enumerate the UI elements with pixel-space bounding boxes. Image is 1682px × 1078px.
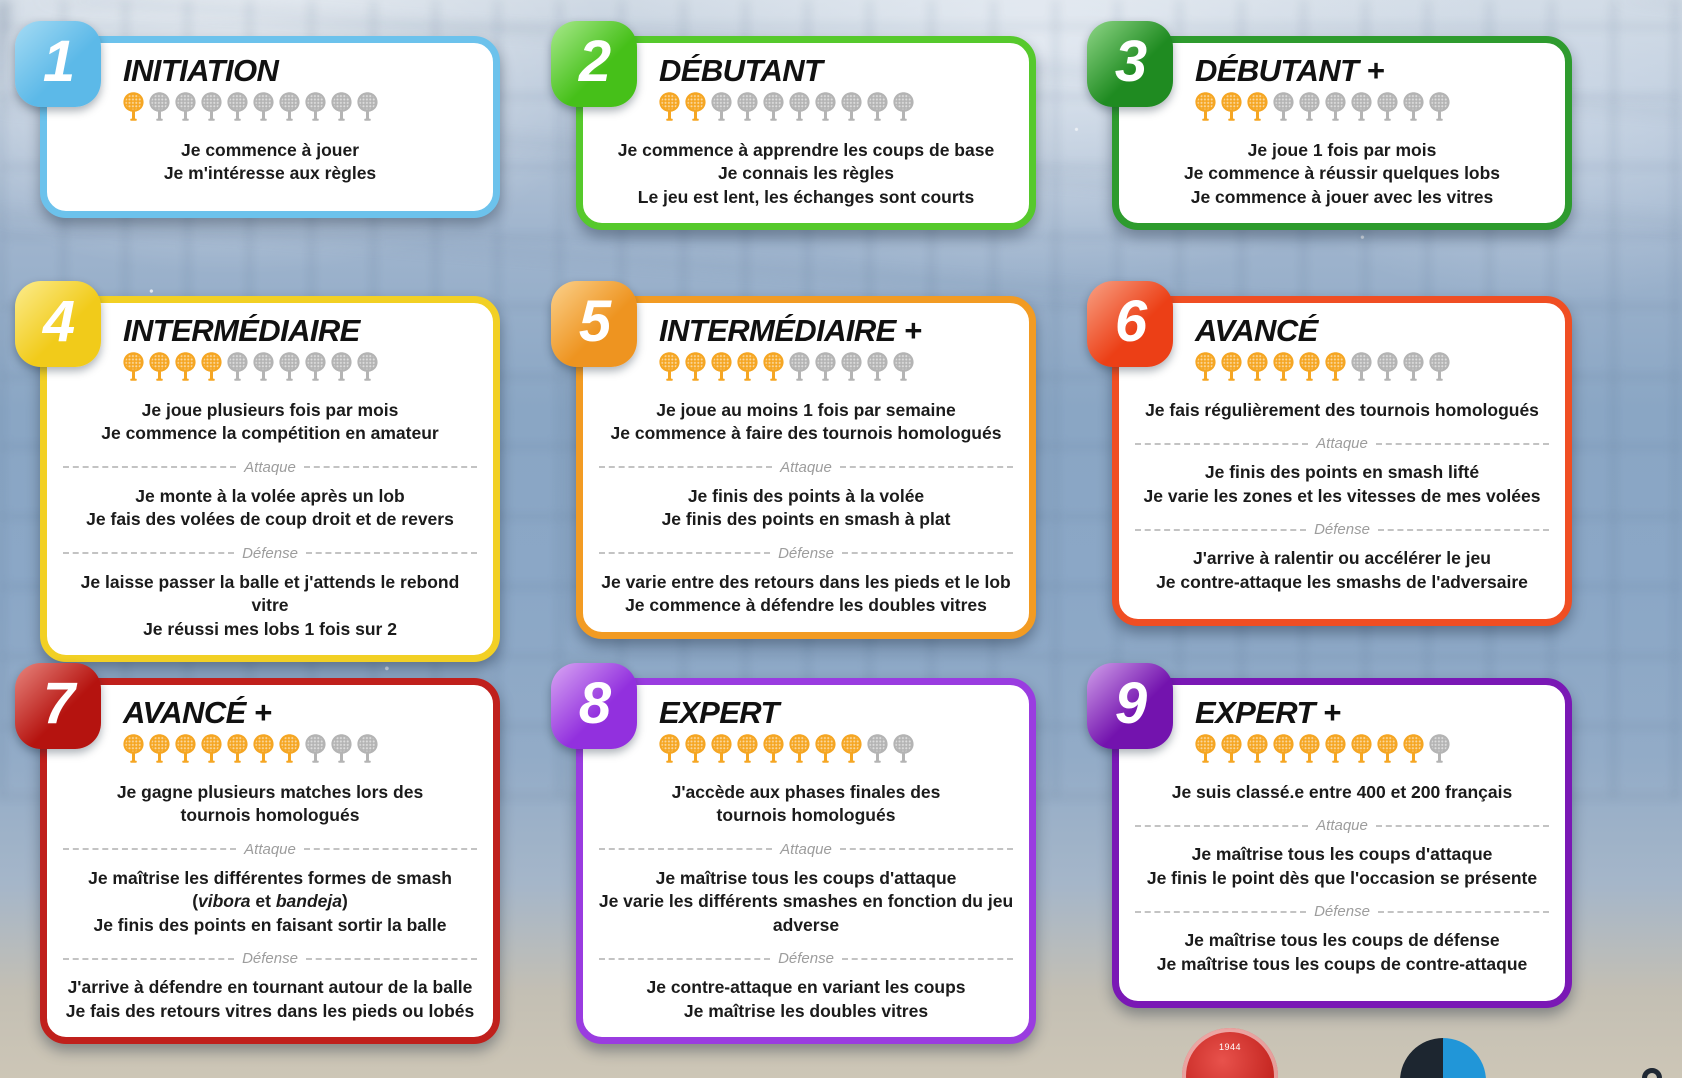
attack-line: Je monte à la volée après un lob [61, 485, 479, 508]
level-card-slot-1: 1INITIATIONJe commence à jouerJe m'intér… [22, 22, 500, 262]
attack-section-divider: Attaque [599, 459, 1013, 476]
summary-line: tournois homologués [597, 804, 1015, 827]
level-title: EXPERT [659, 697, 1015, 729]
defense-line: Je varie entre des retours dans les pied… [597, 571, 1015, 594]
attack-line: Je finis le point dès que l'occasion se … [1133, 867, 1551, 890]
level-card-5[interactable]: 5INTERMÉDIAIRE +Je joue au moins 1 fois … [576, 296, 1036, 639]
attack-section-divider: Attaque [1135, 435, 1549, 452]
defense-line: Je contre-attaque les smashs de l'advers… [1133, 571, 1551, 594]
level-title: DÉBUTANT [659, 55, 1015, 87]
padel-racket-icon [1323, 733, 1348, 763]
attack-line: Je varie les zones et les vitesses de me… [1133, 485, 1551, 508]
divider-rule-right [840, 466, 1013, 468]
padel-racket-icon [173, 91, 198, 121]
defense-label: Défense [778, 950, 834, 967]
padel-racket-icon [1297, 91, 1322, 121]
attack-label: Attaque [1316, 817, 1368, 834]
padel-racket-icon [761, 91, 786, 121]
level-title: AVANCÉ [1195, 315, 1551, 347]
defense-line: Je laisse passer la balle et j'attends l… [61, 571, 479, 618]
padel-racket-icon [1219, 351, 1244, 381]
card-body: Je joue 1 fois par moisJe commence à réu… [1133, 139, 1551, 209]
level-card-slot-2: 2DÉBUTANTJe commence à apprendre les cou… [558, 22, 1036, 262]
divider-rule-left [63, 552, 234, 554]
level-card-8[interactable]: 8EXPERTJ'accède aux phases finales desto… [576, 678, 1036, 1044]
defense-section-divider: Défense [63, 950, 477, 967]
card-body: Je joue plusieurs fois par moisJe commen… [61, 399, 479, 641]
divider-rule-right [842, 552, 1013, 554]
defense-section-divider: Défense [1135, 521, 1549, 538]
padel-racket-icon [1193, 351, 1218, 381]
level-card-3[interactable]: 3DÉBUTANT +Je joue 1 fois par moisJe com… [1112, 36, 1572, 230]
level-title: INITIATION [123, 55, 479, 87]
racket-rating [657, 733, 1015, 763]
padel-racket-icon [1401, 91, 1426, 121]
summary-line: J'accède aux phases finales des [597, 781, 1015, 804]
padel-racket-icon [1427, 351, 1452, 381]
divider-rule-right [304, 848, 477, 850]
racket-rating [121, 91, 479, 121]
padel-racket-icon [251, 351, 276, 381]
summary-line: Je commence la compétition en amateur [61, 422, 479, 445]
divider-rule-left [1135, 529, 1306, 531]
attack-line: Je maîtrise tous les coups d'attaque [1133, 843, 1551, 866]
attack-line: Je fais des volées de coup droit et de r… [61, 508, 479, 531]
padel-racket-icon [277, 351, 302, 381]
padel-racket-icon [1297, 733, 1322, 763]
level-number: 3 [1115, 33, 1145, 91]
padel-racket-icon [199, 351, 224, 381]
level-card-slot-5: 5INTERMÉDIAIRE +Je joue au moins 1 fois … [558, 282, 1036, 644]
card-body: Je commence à apprendre les coups de bas… [597, 139, 1015, 209]
racket-rating [657, 351, 1015, 381]
defense-label: Défense [1314, 521, 1370, 538]
level-number: 1 [43, 33, 73, 91]
summary-line: Je commence à jouer [61, 139, 479, 162]
defense-line: Je contre-attaque en variant les coups [597, 976, 1015, 999]
level-number-badge: 2 [551, 21, 637, 107]
padel-racket-icon [147, 91, 172, 121]
padel-racket-icon [1323, 351, 1348, 381]
padel-racket-icon [735, 733, 760, 763]
padel-racket-icon [1245, 733, 1270, 763]
padel-racket-icon [839, 733, 864, 763]
padel-racket-icon [1427, 91, 1452, 121]
summary-line: Je commence à réussir quelques lobs [1133, 162, 1551, 185]
attack-line: Je maîtrise les différentes formes de sm… [61, 867, 479, 914]
level-title: DÉBUTANT + [1195, 55, 1551, 87]
divider-rule-left [63, 848, 236, 850]
padel-racket-icon [1401, 351, 1426, 381]
card-header: INTERMÉDIAIRE + [659, 315, 1015, 391]
level-number-badge: 8 [551, 663, 637, 749]
level-number-badge: 3 [1087, 21, 1173, 107]
divider-rule-right [1376, 825, 1549, 827]
attack-line: Je finis des points en faisant sortir la… [61, 914, 479, 937]
padel-racket-icon [329, 733, 354, 763]
card-header: EXPERT + [1195, 697, 1551, 773]
attack-line: Je finis des points en smash lifté [1133, 461, 1551, 484]
card-header: DÉBUTANT [659, 55, 1015, 131]
attack-label: Attaque [244, 459, 296, 476]
level-card-slot-3: 3DÉBUTANT +Je joue 1 fois par moisJe com… [1094, 22, 1572, 262]
padel-racket-icon [251, 91, 276, 121]
padel-racket-icon [1323, 91, 1348, 121]
level-card-slot-9: 9EXPERT +Je suis classé.e entre 400 et 2… [1094, 664, 1572, 1024]
padel-racket-icon [1401, 733, 1426, 763]
divider-rule-right [840, 848, 1013, 850]
defense-line: Je maîtrise les doubles vitres [597, 1000, 1015, 1023]
padel-racket-icon [303, 351, 328, 381]
defense-line: J'arrive à ralentir ou accélérer le jeu [1133, 547, 1551, 570]
card-body: Je fais régulièrement des tournois homol… [1133, 399, 1551, 594]
divider-rule-right [306, 552, 477, 554]
padel-racket-icon [787, 733, 812, 763]
padel-racket-icon [1271, 733, 1296, 763]
padel-racket-icon [1375, 351, 1400, 381]
summary-line: Je fais régulièrement des tournois homol… [1133, 399, 1551, 422]
level-card-6[interactable]: 6AVANCÉJe fais régulièrement des tournoi… [1112, 296, 1572, 626]
padel-racket-icon [657, 733, 682, 763]
padel-racket-icon [787, 91, 812, 121]
attack-label: Attaque [1316, 435, 1368, 452]
defense-section-divider: Défense [63, 545, 477, 562]
level-number: 2 [579, 33, 609, 91]
card-header: AVANCÉ + [123, 697, 479, 773]
divider-rule-left [63, 958, 234, 960]
padel-racket-icon [761, 351, 786, 381]
padel-racket-icon [1375, 733, 1400, 763]
padel-racket-icon [355, 91, 380, 121]
padel-racket-icon [1245, 91, 1270, 121]
padel-racket-icon [813, 91, 838, 121]
padel-racket-icon [329, 91, 354, 121]
padel-racket-icon [1271, 351, 1296, 381]
levels-grid: 1INITIATIONJe commence à jouerJe m'intér… [0, 0, 1682, 1078]
padel-racket-icon [891, 351, 916, 381]
level-card-7[interactable]: 7AVANCÉ +Je gagne plusieurs matches lors… [40, 678, 500, 1044]
padel-racket-icon [761, 733, 786, 763]
card-header: EXPERT [659, 697, 1015, 773]
defense-line: J'arrive à défendre en tournant autour d… [61, 976, 479, 999]
summary-line: Je commence à jouer avec les vitres [1133, 186, 1551, 209]
level-card-9[interactable]: 9EXPERT +Je suis classé.e entre 400 et 2… [1112, 678, 1572, 1008]
defense-line: Je fais des retours vitres dans les pied… [61, 1000, 479, 1023]
attack-section-divider: Attaque [1135, 817, 1549, 834]
padel-racket-icon [735, 351, 760, 381]
level-card-slot-6: 6AVANCÉJe fais régulièrement des tournoi… [1094, 282, 1572, 644]
padel-racket-icon [865, 351, 890, 381]
padel-racket-icon [277, 91, 302, 121]
divider-rule-right [1378, 911, 1549, 913]
level-number: 7 [43, 675, 73, 733]
padel-racket-icon [683, 351, 708, 381]
attack-section-divider: Attaque [63, 459, 477, 476]
padel-racket-icon [1219, 91, 1244, 121]
summary-line: Je suis classé.e entre 400 et 200 frança… [1133, 781, 1551, 804]
padel-racket-icon [121, 91, 146, 121]
summary-line: Je connais les règles [597, 162, 1015, 185]
defense-section-divider: Défense [599, 950, 1013, 967]
racket-rating [657, 91, 1015, 121]
attack-line: Je finis des points en smash à plat [597, 508, 1015, 531]
racket-rating [1193, 733, 1551, 763]
padel-racket-icon [657, 351, 682, 381]
level-number-badge: 7 [15, 663, 101, 749]
padel-racket-icon [147, 733, 172, 763]
card-header: AVANCÉ [1195, 315, 1551, 391]
card-body: Je suis classé.e entre 400 et 200 frança… [1133, 781, 1551, 976]
card-header: INTERMÉDIAIRE [123, 315, 479, 391]
summary-line: Le jeu est lent, les échanges sont court… [597, 186, 1015, 209]
summary-line: Je m'intéresse aux règles [61, 162, 479, 185]
padel-racket-icon [683, 733, 708, 763]
divider-rule-left [599, 848, 772, 850]
divider-rule-left [1135, 443, 1308, 445]
padel-racket-icon [683, 91, 708, 121]
level-number: 8 [579, 675, 609, 733]
padel-racket-icon [173, 351, 198, 381]
level-number: 4 [43, 293, 73, 351]
padel-racket-icon [225, 733, 250, 763]
padel-racket-icon [355, 733, 380, 763]
summary-line: Je commence à faire des tournois homolog… [597, 422, 1015, 445]
padel-racket-icon [121, 351, 146, 381]
card-body: Je joue au moins 1 fois par semaineJe co… [597, 399, 1015, 618]
level-title: INTERMÉDIAIRE [123, 315, 479, 347]
divider-rule-left [1135, 825, 1308, 827]
level-number-badge: 5 [551, 281, 637, 367]
attack-section-divider: Attaque [599, 841, 1013, 858]
padel-racket-icon [813, 733, 838, 763]
divider-rule-right [842, 958, 1013, 960]
padel-racket-icon [1245, 351, 1270, 381]
card-header: INITIATION [123, 55, 479, 131]
attack-label: Attaque [780, 459, 832, 476]
padel-racket-icon [225, 91, 250, 121]
divider-rule-left [599, 958, 770, 960]
defense-label: Défense [242, 545, 298, 562]
level-number: 9 [1115, 675, 1145, 733]
padel-racket-icon [121, 733, 146, 763]
level-number-badge: 9 [1087, 663, 1173, 749]
divider-rule-right [1376, 443, 1549, 445]
racket-rating [121, 733, 479, 763]
divider-rule-left [599, 466, 772, 468]
level-number-badge: 1 [15, 21, 101, 107]
padel-racket-icon [865, 91, 890, 121]
padel-racket-icon [1193, 91, 1218, 121]
divider-rule-left [63, 466, 236, 468]
padel-racket-icon [199, 733, 224, 763]
summary-line: Je commence à apprendre les coups de bas… [597, 139, 1015, 162]
level-card-slot-8: 8EXPERTJ'accède aux phases finales desto… [558, 664, 1036, 1024]
defense-section-divider: Défense [1135, 903, 1549, 920]
attack-label: Attaque [244, 841, 296, 858]
defense-label: Défense [1314, 903, 1370, 920]
padel-racket-icon [1375, 91, 1400, 121]
attack-line: Je maîtrise tous les coups d'attaque [597, 867, 1015, 890]
level-number-badge: 4 [15, 281, 101, 367]
racket-rating [1193, 351, 1551, 381]
summary-line: Je joue plusieurs fois par mois [61, 399, 479, 422]
attack-section-divider: Attaque [63, 841, 477, 858]
padel-racket-icon [225, 351, 250, 381]
summary-line: Je joue 1 fois par mois [1133, 139, 1551, 162]
defense-line: Je maîtrise tous les coups de contre-att… [1133, 953, 1551, 976]
padel-racket-icon [303, 91, 328, 121]
padel-racket-icon [1427, 733, 1452, 763]
padel-racket-icon [1349, 91, 1374, 121]
card-body: Je commence à jouerJe m'intéresse aux rè… [61, 139, 479, 186]
attack-label: Attaque [780, 841, 832, 858]
level-title: AVANCÉ + [123, 697, 479, 729]
level-card-1[interactable]: 1INITIATIONJe commence à jouerJe m'intér… [40, 36, 500, 218]
defense-line: Je maîtrise tous les coups de défense [1133, 929, 1551, 952]
card-body: Je gagne plusieurs matches lors destourn… [61, 781, 479, 1023]
level-card-slot-4: 4INTERMÉDIAIREJe joue plusieurs fois par… [22, 282, 500, 644]
padel-racket-icon [813, 351, 838, 381]
defense-label: Défense [778, 545, 834, 562]
padel-racket-icon [1349, 351, 1374, 381]
racket-rating [121, 351, 479, 381]
padel-racket-icon [787, 351, 812, 381]
padel-racket-icon [735, 91, 760, 121]
padel-racket-icon [147, 351, 172, 381]
padel-racket-icon [865, 733, 890, 763]
divider-rule-right [1378, 529, 1549, 531]
defense-line: Je réussi mes lobs 1 fois sur 2 [61, 618, 479, 641]
padel-racket-icon [173, 733, 198, 763]
level-title: EXPERT + [1195, 697, 1551, 729]
padel-racket-icon [1193, 733, 1218, 763]
padel-racket-icon [839, 351, 864, 381]
padel-racket-icon [891, 91, 916, 121]
defense-label: Défense [242, 950, 298, 967]
level-title: INTERMÉDIAIRE + [659, 315, 1015, 347]
defense-line: Je commence à défendre les doubles vitre… [597, 594, 1015, 617]
padel-racket-icon [251, 733, 276, 763]
padel-racket-icon [839, 91, 864, 121]
padel-racket-icon [709, 91, 734, 121]
level-card-slot-7: 7AVANCÉ +Je gagne plusieurs matches lors… [22, 664, 500, 1024]
divider-rule-left [1135, 911, 1306, 913]
padel-racket-icon [891, 733, 916, 763]
card-body: J'accède aux phases finales destournois … [597, 781, 1015, 1023]
padel-racket-icon [657, 91, 682, 121]
padel-racket-icon [709, 733, 734, 763]
divider-rule-right [306, 958, 477, 960]
padel-racket-icon [1297, 351, 1322, 381]
attack-line: Je finis des points à la volée [597, 485, 1015, 508]
padel-racket-icon [1349, 733, 1374, 763]
level-number: 5 [579, 293, 609, 351]
level-card-2[interactable]: 2DÉBUTANTJe commence à apprendre les cou… [576, 36, 1036, 230]
defense-section-divider: Défense [599, 545, 1013, 562]
level-number: 6 [1115, 293, 1145, 351]
attack-line: Je varie les différents smashes en fonct… [597, 890, 1015, 937]
summary-line: Je joue au moins 1 fois par semaine [597, 399, 1015, 422]
summary-line: tournois homologués [61, 804, 479, 827]
level-number-badge: 6 [1087, 281, 1173, 367]
padel-racket-icon [303, 733, 328, 763]
padel-racket-icon [199, 91, 224, 121]
padel-racket-icon [355, 351, 380, 381]
racket-rating [1193, 91, 1551, 121]
padel-racket-icon [1271, 91, 1296, 121]
padel-racket-icon [709, 351, 734, 381]
card-header: DÉBUTANT + [1195, 55, 1551, 131]
padel-racket-icon [1219, 733, 1244, 763]
summary-line: Je gagne plusieurs matches lors des [61, 781, 479, 804]
divider-rule-left [599, 552, 770, 554]
padel-racket-icon [277, 733, 302, 763]
level-card-4[interactable]: 4INTERMÉDIAIREJe joue plusieurs fois par… [40, 296, 500, 662]
padel-racket-icon [329, 351, 354, 381]
divider-rule-right [304, 466, 477, 468]
